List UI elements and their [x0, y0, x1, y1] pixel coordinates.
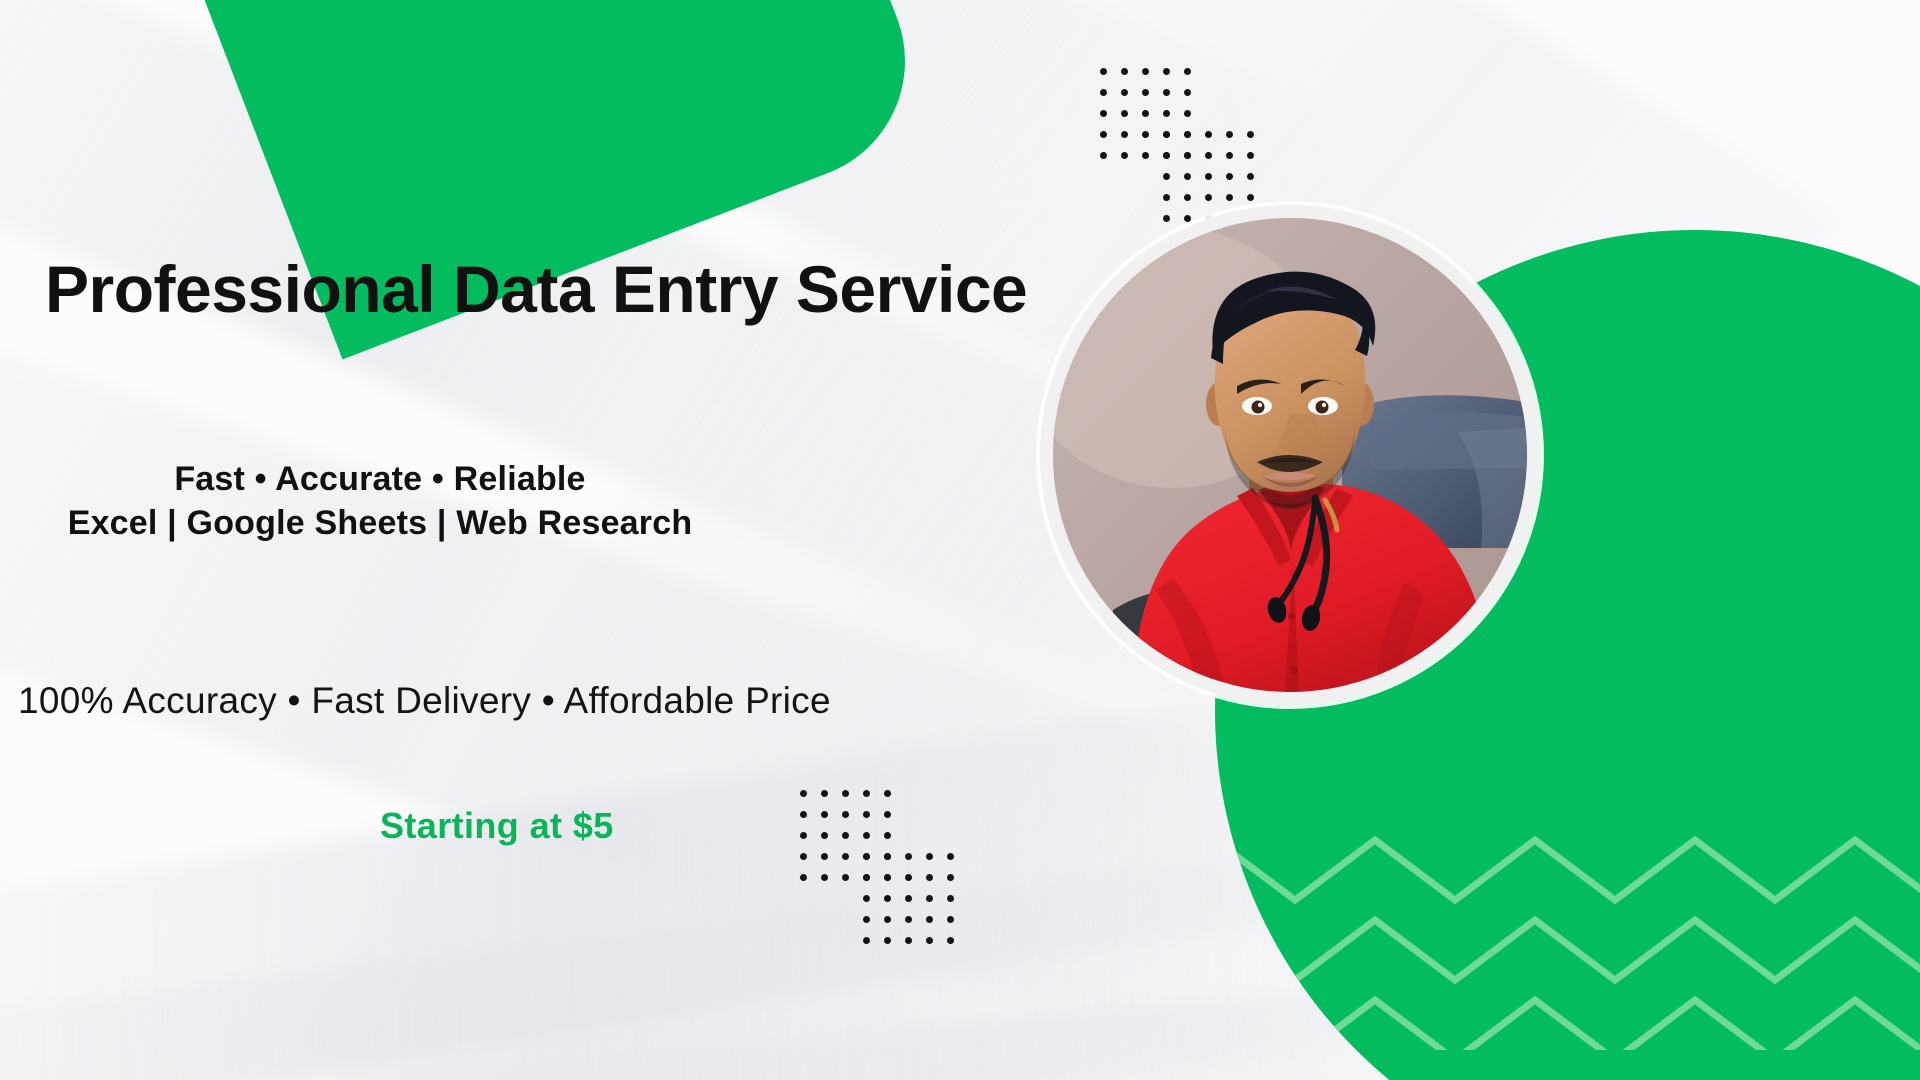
feature-line-1: Fast • Accurate • Reliable: [0, 458, 760, 502]
dot: [863, 790, 870, 797]
dot: [821, 832, 828, 839]
dot: [821, 874, 828, 881]
dot: [863, 811, 870, 818]
dot-grid-top-icon: [1100, 68, 1270, 208]
dot: [1163, 89, 1170, 96]
dot: [926, 853, 933, 860]
dot: [947, 895, 954, 902]
dot: [800, 874, 807, 881]
dot: [863, 895, 870, 902]
dot: [884, 874, 891, 881]
dot: [1163, 194, 1170, 201]
dot: [884, 895, 891, 902]
dot: [863, 916, 870, 923]
portrait-illustration: [1053, 218, 1527, 692]
dot: [1226, 173, 1233, 180]
dot: [1184, 131, 1191, 138]
dot: [1184, 215, 1191, 222]
dot: [1205, 131, 1212, 138]
dot: [905, 895, 912, 902]
feature-lines: Fast • Accurate • Reliable Excel | Googl…: [0, 458, 760, 545]
dot: [1100, 152, 1107, 159]
dot: [884, 853, 891, 860]
dot: [1163, 110, 1170, 117]
dot: [1142, 110, 1149, 117]
dot: [800, 790, 807, 797]
dot: [926, 874, 933, 881]
avatar: [1040, 205, 1540, 705]
dot: [1121, 131, 1128, 138]
dot: [1184, 194, 1191, 201]
dot: [884, 937, 891, 944]
dot: [1142, 68, 1149, 75]
dot: [884, 790, 891, 797]
dot: [1100, 68, 1107, 75]
dot: [821, 790, 828, 797]
dot: [1163, 131, 1170, 138]
portrait-photo: [1053, 218, 1527, 692]
dot: [842, 811, 849, 818]
dot: [863, 853, 870, 860]
dot: [800, 853, 807, 860]
dot: [1247, 131, 1254, 138]
dot: [1184, 173, 1191, 180]
dot: [821, 853, 828, 860]
dot: [905, 916, 912, 923]
dot: [1142, 89, 1149, 96]
dot: [1205, 194, 1212, 201]
dot: [926, 895, 933, 902]
dot: [1121, 110, 1128, 117]
dot: [1184, 89, 1191, 96]
dot: [1100, 110, 1107, 117]
dot: [905, 853, 912, 860]
dot: [1226, 194, 1233, 201]
dot: [947, 874, 954, 881]
dot: [947, 916, 954, 923]
dot: [884, 832, 891, 839]
dot: [905, 874, 912, 881]
dot: [821, 811, 828, 818]
tagline: 100% Accuracy • Fast Delivery • Affordab…: [18, 680, 831, 722]
zigzag-pattern: [1215, 820, 1920, 1050]
page-title: Professional Data Entry Service: [45, 255, 1027, 324]
dot: [1142, 131, 1149, 138]
dot: [947, 937, 954, 944]
dot: [1121, 152, 1128, 159]
dot: [842, 832, 849, 839]
dot: [1163, 173, 1170, 180]
promo-banner: Professional Data Entry Service Fast • A…: [0, 0, 1920, 1080]
dot: [800, 811, 807, 818]
dot: [1100, 131, 1107, 138]
feature-line-2: Excel | Google Sheets | Web Research: [0, 502, 760, 546]
dot: [1247, 173, 1254, 180]
dot: [1163, 68, 1170, 75]
dot: [1100, 89, 1107, 96]
dot: [1247, 194, 1254, 201]
dot: [1163, 215, 1170, 222]
dot: [842, 853, 849, 860]
dot: [1121, 89, 1128, 96]
dot: [1205, 152, 1212, 159]
dot: [842, 790, 849, 797]
dot: [1184, 68, 1191, 75]
dot: [947, 853, 954, 860]
dot: [884, 811, 891, 818]
dot: [1142, 152, 1149, 159]
dot: [1184, 110, 1191, 117]
dot: [1121, 68, 1128, 75]
dot: [926, 916, 933, 923]
dot-grid-bottom-icon: [800, 790, 970, 930]
dot: [1163, 152, 1170, 159]
dot: [1226, 152, 1233, 159]
dot: [1226, 131, 1233, 138]
dot: [1247, 152, 1254, 159]
dot: [800, 832, 807, 839]
price-label: Starting at $5: [380, 805, 614, 847]
dot: [905, 937, 912, 944]
dot: [863, 937, 870, 944]
dot: [1184, 152, 1191, 159]
dot: [1205, 173, 1212, 180]
dot: [863, 832, 870, 839]
dot: [884, 916, 891, 923]
dot: [842, 874, 849, 881]
dot: [863, 874, 870, 881]
dot: [926, 937, 933, 944]
